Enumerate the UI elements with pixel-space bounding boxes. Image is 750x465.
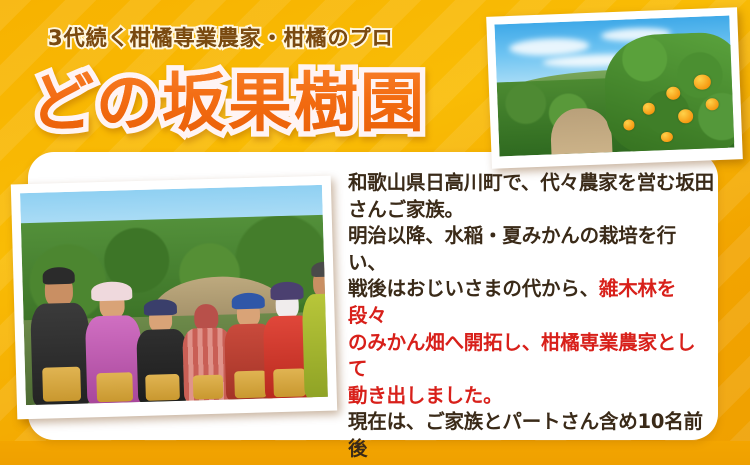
orchard-photo-image [494,16,734,157]
banner-subtitle: 3代続く柑橘専業農家・柑橘のプロ [48,22,394,52]
plain-text: さんご家族。 [348,198,464,221]
harvest-basket [192,374,223,399]
highlighted-text: 動き出しました。 [348,384,502,407]
harvest-basket [146,373,181,400]
description-line: 戦後はおじいさまの代から、雑木林を段々 [348,276,714,329]
orange-fruit-icon [705,98,718,110]
orange-fruit-icon [694,74,711,89]
farm-title: どの坂果樹園 [30,52,426,144]
family-photo-image [20,185,328,405]
description-line: 明治以降、水稲・夏みかんの栽培を行い、 [348,223,714,276]
harvest-basket [234,371,267,398]
hair [43,267,75,285]
banner-subtitle-outline: 3代続く柑橘専業農家・柑橘のプロ [48,22,394,52]
farm-title-outline: どの坂果樹園 [30,52,426,144]
plain-text: 戦後はおじいさまの代から、 [348,277,599,300]
description-text: 和歌山県日高川町で、代々農家を営む坂田さんご家族。明治以降、水稲・夏みかんの栽培… [348,170,714,465]
plain-text: 明治以降、水稲・夏みかんの栽培を行い、 [348,224,676,274]
sun-hat [91,281,133,301]
torso [302,294,328,399]
plain-text: 現在は、ご家族とパートさん含め10名前後 [348,410,703,460]
person-figure [300,265,328,398]
sun-hat [270,282,303,300]
harvest-basket [96,373,132,402]
description-line: のみかん畑へ開拓し、柑橘専業農家として [348,330,714,383]
description-line: 動き出しました。 [348,383,714,410]
sun-hat [231,292,264,309]
description-line: さんご家族。 [348,197,714,224]
harvest-basket [273,369,306,397]
family-photo [11,176,337,420]
banner-header: 3代続く柑橘専業農家・柑橘のプロ 3代続く柑橘専業農家・柑橘のプロ どの坂果樹園… [0,0,500,150]
promo-banner: 3代続く柑橘専業農家・柑橘のプロ 3代続く柑橘専業農家・柑橘のプロ どの坂果樹園… [0,0,750,465]
plain-text: 和歌山県日高川町で、代々農家を営む坂田 [348,171,714,194]
description-line: 現在は、ご家族とパートさん含め10名前後 [348,409,714,462]
orchard-photo [486,7,743,169]
highlighted-text: のみかん畑へ開拓し、柑橘専業農家として [348,331,695,381]
description-line: 和歌山県日高川町で、代々農家を営む坂田 [348,170,714,197]
sun-hat [144,299,177,315]
harvest-basket [42,367,80,402]
hair [311,261,328,277]
